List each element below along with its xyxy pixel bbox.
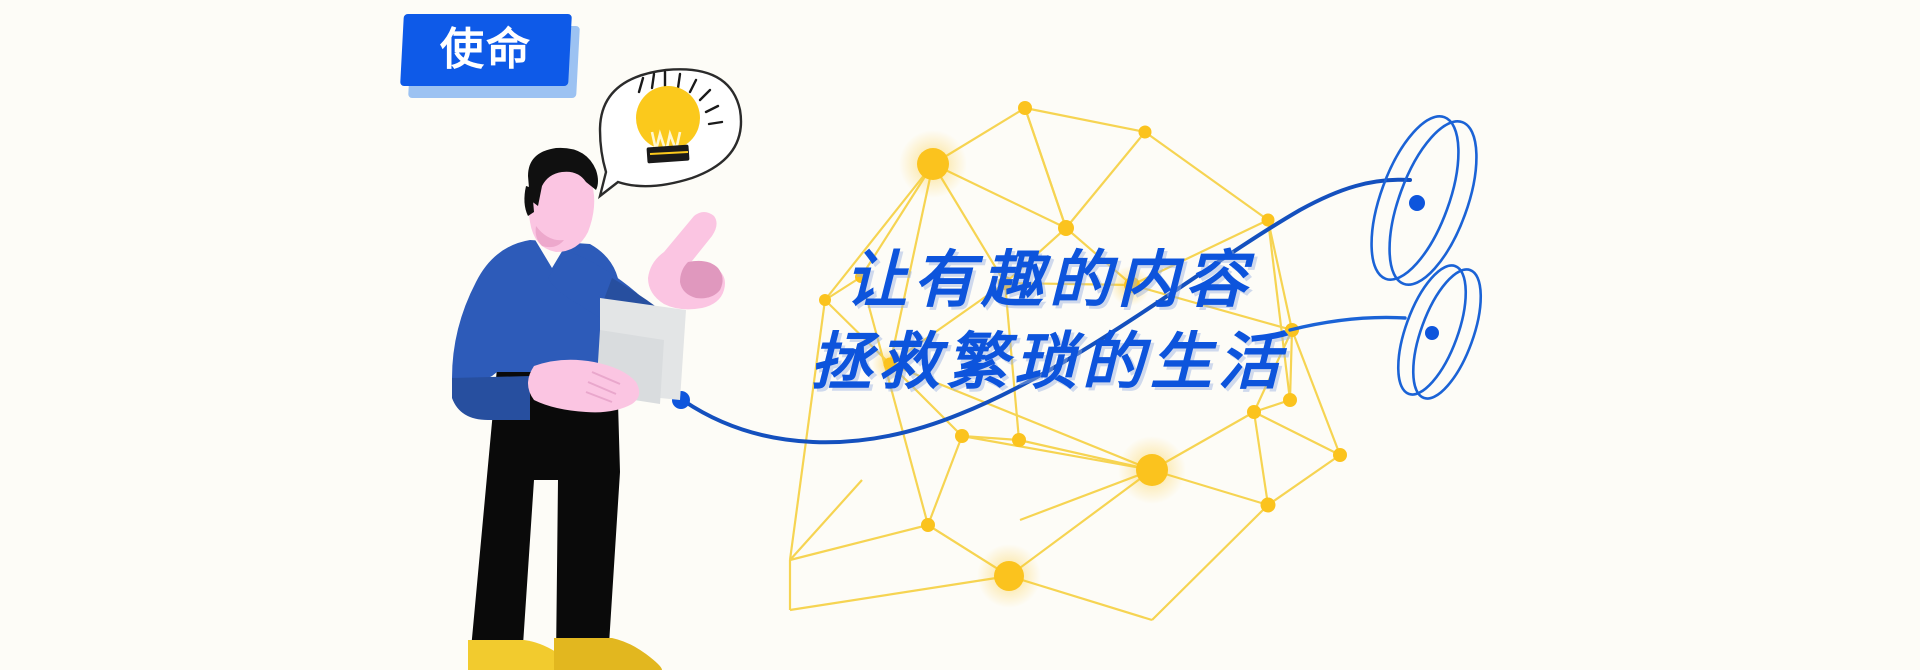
- mission-banner: 让有趣的内容 拯救繁琐的生活: [0, 0, 1920, 670]
- idea-speech-bubble: [0, 0, 1920, 670]
- bulb-base: [646, 145, 689, 164]
